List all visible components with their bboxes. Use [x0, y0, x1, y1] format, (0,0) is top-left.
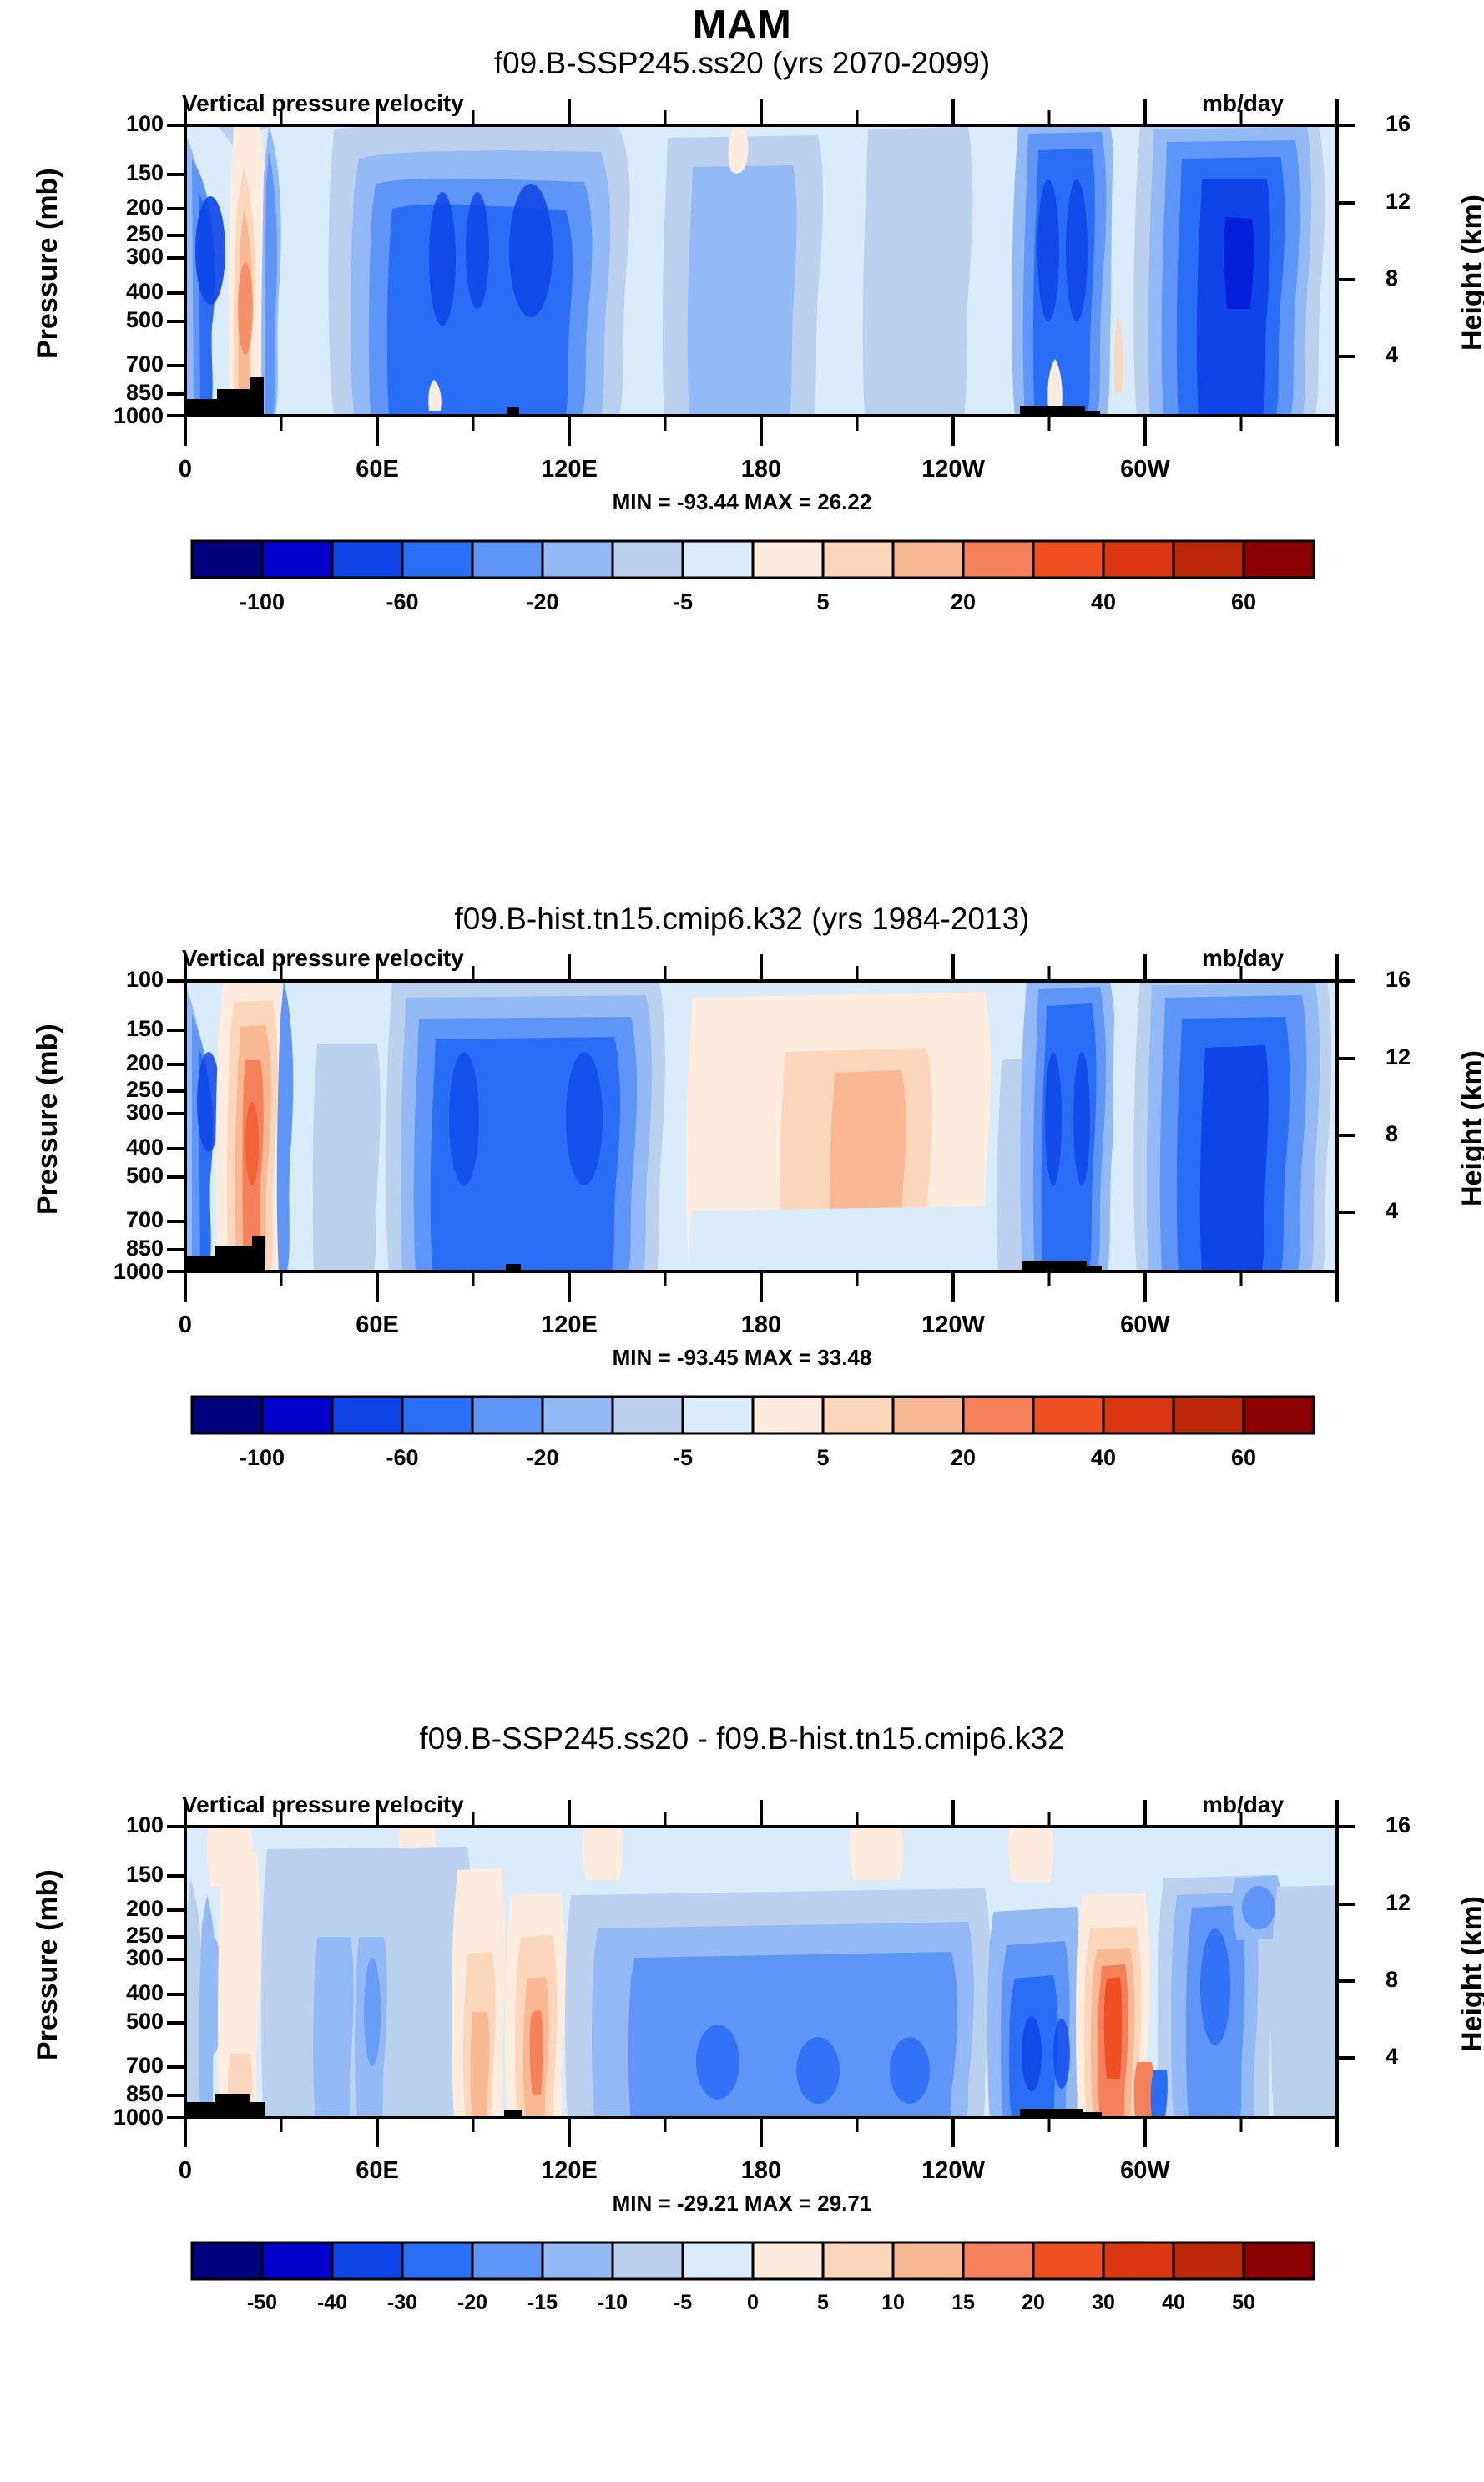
- panel-top-minmax: MIN = -93.44 MAX = 26.22: [0, 489, 1484, 515]
- xtick-120W: 120W: [903, 456, 1003, 483]
- xtick-m-180: 180: [711, 1312, 811, 1339]
- cbtick-top-4: 5: [781, 589, 865, 615]
- cbtick-top-2: -20: [501, 589, 584, 615]
- xtick-b-60E: 60E: [336, 2157, 419, 2185]
- panel-bottom: f09.B-SSP245.ss20 - f09.B-hist.tn15.cmip…: [0, 1703, 1484, 2482]
- xtick-m-120E: 120E: [519, 1312, 619, 1339]
- xtick-b-180: 180: [711, 2157, 811, 2185]
- xtick-180: 180: [711, 456, 811, 483]
- panel-bottom-plot: [0, 1703, 1484, 2482]
- colorbar-swatches: [192, 1397, 1314, 1433]
- panel-top: f09.B-SSP245.ss20 (yrs 2070-2099) Vertic…: [0, 0, 1484, 852]
- xtick-120E: 120E: [519, 456, 619, 483]
- cbtick-mid-1: -60: [361, 1445, 444, 1471]
- figure-root: MAM f09.B-SSP245.ss20 (yrs 2070-2099) Ve…: [0, 0, 1484, 2482]
- xtick-b-120E: 120E: [519, 2157, 619, 2185]
- colorbar-swatches: [192, 2242, 1314, 2279]
- xtick-60W: 60W: [1103, 456, 1187, 483]
- xtick-m-60E: 60E: [336, 1312, 419, 1339]
- xtick-m-120W: 120W: [903, 1312, 1003, 1339]
- cbtick-mid-3: -5: [641, 1445, 724, 1471]
- xtick-60E: 60E: [336, 456, 419, 483]
- panel-bottom-colorbar: [0, 2236, 1484, 2336]
- xtick-m-0: 0: [160, 1312, 210, 1339]
- xtick-b-120W: 120W: [903, 2157, 1003, 2185]
- panel-middle: f09.B-hist.tn15.cmip6.k32 (yrs 1984-2013…: [0, 852, 1484, 1703]
- cbtick-mid-6: 40: [1062, 1445, 1145, 1471]
- cbtick-mid-5: 20: [921, 1445, 1005, 1471]
- cbtick-mid-7: 60: [1202, 1445, 1285, 1471]
- cbtick-bot-14: 50: [1202, 2291, 1285, 2315]
- panel-middle-minmax: MIN = -93.45 MAX = 33.48: [0, 1345, 1484, 1371]
- cbtick-top-1: -60: [361, 589, 444, 615]
- cbtick-mid-0: -100: [220, 1445, 304, 1471]
- xtick-m-60W: 60W: [1103, 1312, 1187, 1339]
- panel-top-plot: [0, 0, 1484, 852]
- panel-middle-plot: [0, 852, 1484, 1703]
- panel-top-colorbar: [0, 534, 1484, 634]
- cbtick-top-3: -5: [641, 589, 724, 615]
- cbtick-top-0: -100: [220, 589, 304, 615]
- cbtick-mid-4: 5: [781, 1445, 865, 1471]
- cbtick-mid-2: -20: [501, 1445, 584, 1471]
- xtick-b-0: 0: [160, 2157, 210, 2185]
- cbtick-top-5: 20: [921, 589, 1005, 615]
- panel-bottom-minmax: MIN = -29.21 MAX = 29.71: [0, 2191, 1484, 2217]
- cbtick-top-7: 60: [1202, 589, 1285, 615]
- colorbar-swatches: [192, 541, 1314, 578]
- panel-middle-colorbar: [0, 1390, 1484, 1490]
- cbtick-top-6: 40: [1062, 589, 1145, 615]
- xtick-b-60W: 60W: [1103, 2157, 1187, 2185]
- xtick-0: 0: [160, 456, 210, 483]
